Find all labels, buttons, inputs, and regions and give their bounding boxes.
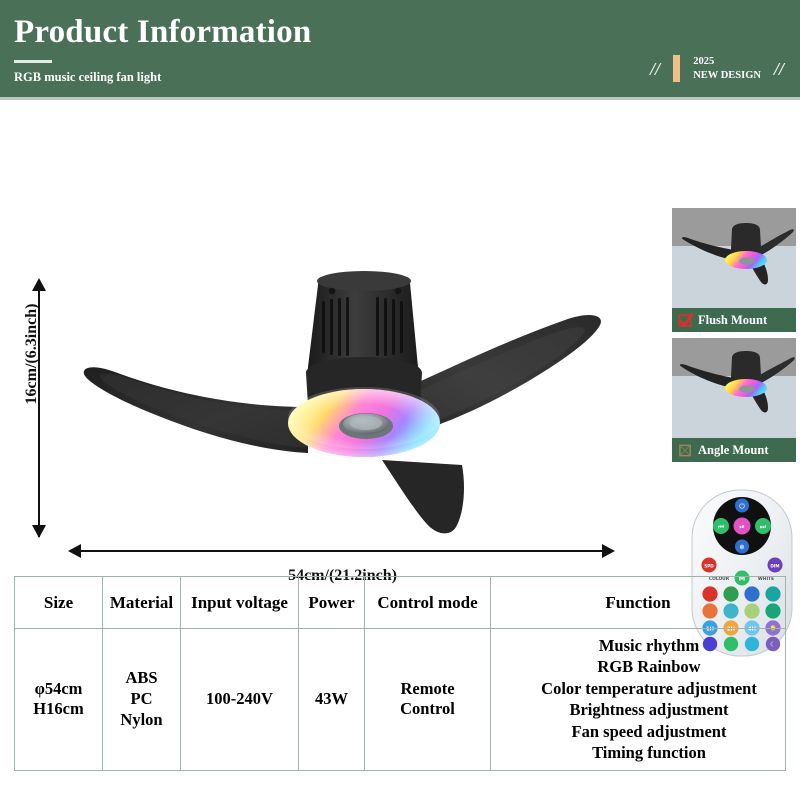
angle-mount-photo [672, 338, 796, 438]
svg-text:⏯: ⏯ [739, 523, 745, 531]
specification-table: Size Material Input voltage Power Contro… [14, 576, 786, 771]
control-line-2: Control [369, 699, 486, 720]
product-information-page: Product Information RGB music ceiling fa… [0, 0, 800, 800]
height-arrow-bottom [32, 525, 46, 538]
function-item: RGB Rainbow [517, 656, 781, 677]
title-divider [14, 60, 52, 63]
width-arrow-right [602, 544, 615, 558]
slash-decoration-right: // [774, 60, 784, 78]
flush-mount-photo [672, 208, 796, 308]
header-power: Power [299, 577, 365, 629]
flush-mount-fan-illustration [672, 208, 796, 308]
mount-option-angle[interactable]: Angle Mount [672, 338, 796, 462]
cell-power: 43W [299, 629, 365, 771]
slash-decoration-left: // [650, 60, 660, 78]
cell-function: Music rhythm RGB Rainbow Color temperatu… [491, 629, 786, 771]
page-subtitle: RGB music ceiling fan light [14, 70, 161, 85]
svg-text:⏻: ⏻ [739, 503, 745, 511]
svg-text:⏮: ⏮ [718, 523, 724, 531]
svg-text:❄: ❄ [739, 544, 745, 552]
header-input-voltage: Input voltage [181, 577, 299, 629]
function-item: Music rhythm [517, 635, 781, 656]
angle-mount-fan-illustration [672, 338, 796, 438]
badge-accent-bar [673, 55, 680, 82]
size-line-1: φ54cm [19, 679, 98, 700]
check-mark-icon [678, 313, 693, 328]
svg-text:SPD: SPD [704, 564, 714, 569]
mount-options-panel: Flush Mount [672, 208, 796, 468]
empty-check-box-icon [678, 443, 693, 458]
size-line-2: H16cm [19, 699, 98, 720]
material-line-1: ABS [107, 668, 176, 689]
function-item: Fan speed adjustment [517, 721, 781, 742]
cell-material: ABS PC Nylon [103, 629, 181, 771]
badge-tagline: NEW DESIGN [693, 69, 761, 83]
cell-size: φ54cm H16cm [15, 629, 103, 771]
header-material: Material [103, 577, 181, 629]
ceiling-fan-illustration [60, 255, 640, 540]
angle-mount-label-bar: Angle Mount [672, 438, 796, 462]
flush-mount-label: Flush Mount [698, 313, 767, 328]
header-control-mode: Control mode [365, 577, 491, 629]
badge-text: 2025 NEW DESIGN [693, 55, 761, 82]
function-item: Brightness adjustment [517, 699, 781, 720]
badge-year: 2025 [693, 55, 761, 69]
header-badge: // 2025 NEW DESIGN // [650, 55, 784, 82]
svg-text:DIM: DIM [770, 564, 779, 569]
product-hero-area: 16cm/(6.3inch) 54cm/(21.2inch) [0, 100, 800, 560]
page-title: Product Information [14, 14, 311, 51]
width-arrow-left [68, 544, 81, 558]
function-item: Timing function [517, 742, 781, 763]
flush-mount-label-bar: Flush Mount [672, 308, 796, 332]
cell-control-mode: Remote Control [365, 629, 491, 771]
svg-text:⏭: ⏭ [760, 523, 767, 531]
control-line-1: Remote [369, 679, 486, 700]
cell-input-voltage: 100-240V [181, 629, 299, 771]
table-row: φ54cm H16cm ABS PC Nylon 100-240V 43W Re… [15, 629, 786, 771]
height-dimension-label: 16cm/(6.3inch) [23, 284, 41, 424]
header-function: Function [491, 577, 786, 629]
material-line-2: PC [107, 689, 176, 710]
table-header-row: Size Material Input voltage Power Contro… [15, 577, 786, 629]
angle-mount-label: Angle Mount [698, 443, 769, 458]
header-size: Size [15, 577, 103, 629]
function-item: Color temperature adjustment [517, 678, 781, 699]
material-line-3: Nylon [107, 710, 176, 731]
mount-option-flush[interactable]: Flush Mount [672, 208, 796, 332]
page-header: Product Information RGB music ceiling fa… [0, 0, 800, 97]
width-dimension-line [80, 550, 605, 552]
